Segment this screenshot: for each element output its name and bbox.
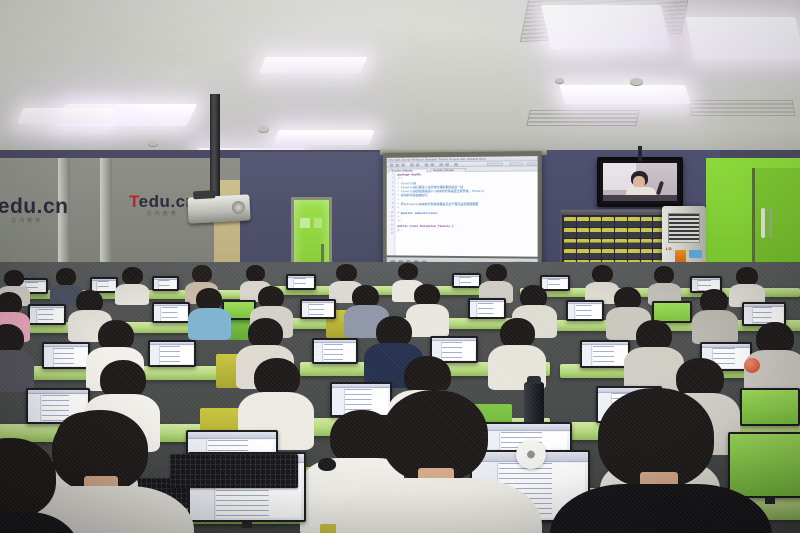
board-cell [602,249,614,259]
board-cell [577,239,589,249]
tedu-logo-letter-t: T [129,192,139,211]
board-cell [564,249,576,259]
ide-code-text: package day06; /** * finally块 * finally块… [395,171,537,256]
ide-menu-items: File Edit Source Refactor Navigate Searc… [389,157,486,161]
board-cell [615,239,627,249]
board-cell [577,217,589,227]
board-cell [628,249,640,259]
apple [744,358,760,373]
board-cell [615,217,627,227]
board-cell [628,239,640,249]
board-cell [577,249,589,259]
board-cell [602,217,614,227]
tedu-logo-subtext: 达内教育 [129,212,196,217]
wall-mounted-tv [597,157,683,207]
laptop [312,338,358,364]
tv-lecturer-face [633,176,645,188]
tedu-logo-subtext: 达内教育 [0,219,68,224]
air-conditioner-label [689,250,702,258]
classroom-photo: Tedu.cn 达内教育 Tedu.cn 达内教育 File Edit Sour… [0,0,800,533]
board-cell [564,228,576,238]
board-cell [641,239,653,249]
desktop-monitor [728,432,800,498]
laptop [148,340,196,367]
board-cell [564,217,576,227]
board-cell [628,217,640,227]
door-pane [300,218,310,228]
microphone-icon [656,181,664,196]
door-pane [314,218,322,228]
laptop [540,275,570,291]
tissue-roll [516,440,546,469]
board-cell [641,249,653,259]
board-cell [590,239,602,249]
projection-screen: File Edit Source Refactor Navigate Searc… [383,151,542,273]
keyboard[interactable] [170,454,298,488]
board-cell [615,228,627,238]
door-handle[interactable] [769,208,772,238]
board-cell [641,217,653,227]
code-line: } [397,229,535,234]
laptop [28,304,66,325]
ceiling-projector [187,194,250,223]
laptop [566,300,604,321]
tv-screen [603,163,677,201]
classroom-seating-area [0,262,800,533]
projected-ide-window: File Edit Source Refactor Navigate Searc… [387,156,538,257]
board-cell [615,249,627,259]
desktop-monitor [740,388,800,426]
air-conditioner-grill [668,213,700,243]
laptop [152,276,179,291]
laptop [300,299,336,319]
tedu-logo-left: Tedu.cn 达内教育 [0,196,68,224]
door-handle[interactable] [761,208,765,238]
mouse[interactable] [318,458,336,471]
ide-code-editor: 1 2 3 4 5 6 7 8 9 10 11 12 13 14 15 [387,171,538,256]
tv-lower-third [603,195,677,201]
tedu-logo-text: edu.cn [0,195,68,218]
board-cell [590,217,602,227]
board-cell [602,239,614,249]
laptop [286,274,316,290]
board-cell [564,239,576,249]
laptop [42,342,90,369]
board-cell [590,228,602,238]
board-cell [628,228,640,238]
laptop [452,273,481,288]
board-cell [641,228,653,238]
air-conditioner-brand: LG [666,246,672,251]
board-cell [590,249,602,259]
projector-mount-pole [210,94,220,202]
tedu-logo-right: Tedu.cn 达内教育 [129,193,196,217]
laptop [468,298,506,319]
laptop [580,340,630,368]
ide-line-number-gutter: 1 2 3 4 5 6 7 8 9 10 11 12 13 14 15 [387,173,396,256]
laptop [152,302,190,323]
board-cell [602,228,614,238]
board-cell [577,228,589,238]
tv-mount-arm [638,146,642,161]
